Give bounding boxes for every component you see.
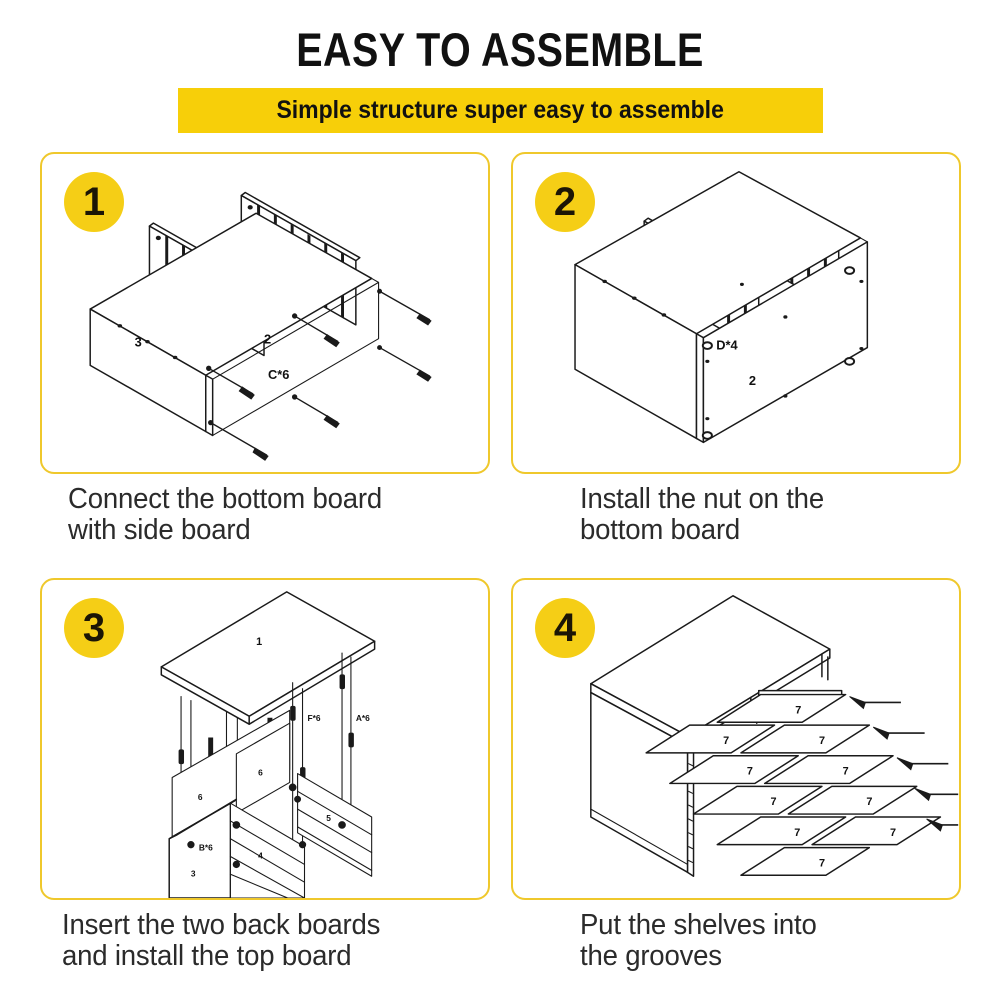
step-number-3: 3: [83, 608, 105, 648]
shelf-label-7: 7: [819, 735, 825, 747]
top-board-1: 1: [161, 592, 374, 724]
part-label-2: 2: [749, 373, 756, 388]
shelf-label-7: 7: [843, 766, 849, 778]
caption-line: bottom board: [580, 515, 960, 546]
hardware-label-c6: C*6: [268, 367, 289, 382]
hardware-label-d4: D*4: [716, 338, 738, 353]
insert-arrow: [897, 758, 948, 770]
caption-line: and install the top board: [62, 941, 490, 972]
nut-icon: [845, 358, 854, 365]
part-label-1: 1: [256, 636, 262, 648]
shelf-label-7: 7: [890, 827, 896, 839]
part-label-4: 4: [258, 850, 263, 860]
step-caption-1: Connect the bottom board with side board: [68, 484, 477, 547]
shelf-label-7: 7: [866, 796, 872, 808]
hardware-label-f6: F*6: [307, 713, 320, 723]
part-label-5: 5: [326, 813, 331, 823]
shelf-label-7: 7: [747, 766, 753, 778]
infographic-page: EASY TO ASSEMBLE Simple structure super …: [0, 0, 1000, 1000]
step-badge-2: 2: [535, 172, 595, 232]
caption-line: Insert the two back boards: [62, 910, 490, 941]
shelf-label-7: 7: [819, 857, 825, 869]
step-panel-1: 1 4: [40, 152, 490, 474]
shelf-label-7: 7: [794, 827, 800, 839]
step-panel-2: 2: [511, 152, 961, 474]
step-caption-3: Insert the two back boards and install t…: [62, 910, 490, 973]
part-label-3: 3: [135, 335, 142, 350]
step-caption-4: Put the shelves into the grooves: [580, 910, 960, 973]
shelf-label-7: 7: [795, 704, 801, 716]
hardware-label-b6: B*6: [199, 843, 213, 853]
shelf-label-7: 7: [771, 796, 777, 808]
step-number-1: 1: [83, 182, 105, 222]
insert-arrow: [915, 788, 958, 800]
insert-arrow: [873, 727, 924, 739]
step-panel-3: 3 1: [40, 578, 490, 900]
subtitle-text: Simple structure super easy to assemble: [277, 96, 724, 125]
page-title: EASY TO ASSEMBLE: [80, 22, 920, 77]
step-number-4: 4: [554, 608, 576, 648]
divider-panel-5: 5: [298, 774, 372, 877]
step-badge-4: 4: [535, 598, 595, 658]
part-label-6-right: 6: [258, 768, 263, 778]
insert-arrow: [927, 819, 959, 831]
step-panel-4: 4: [511, 578, 961, 900]
nut-icon: [703, 342, 712, 349]
part-label-3: 3: [191, 868, 196, 878]
caption-line: Connect the bottom board: [68, 484, 477, 515]
step-badge-3: 3: [64, 598, 124, 658]
shelf-7: [741, 848, 869, 876]
caption-line: Put the shelves into: [580, 910, 960, 941]
nut-icon: [845, 267, 854, 274]
caption-line: the grooves: [580, 941, 960, 972]
subtitle-banner: Simple structure super easy to assemble: [178, 88, 823, 133]
bottom-board-2: 2: [575, 172, 867, 443]
part-label-2: 2: [264, 332, 271, 347]
hardware-label-a6: A*6: [356, 713, 370, 723]
step-caption-2: Install the nut on the bottom board: [580, 484, 960, 547]
divider-panel-4: 4: [230, 803, 304, 898]
shelf-label-7: 7: [723, 735, 729, 747]
part-label-6-left: 6: [198, 792, 203, 802]
nut-icon: [703, 432, 712, 439]
caption-line: Install the nut on the: [580, 484, 960, 515]
step-badge-1: 1: [64, 172, 124, 232]
caption-line: with side board: [68, 515, 477, 546]
insert-arrow: [850, 697, 901, 709]
step-number-2: 2: [554, 182, 576, 222]
